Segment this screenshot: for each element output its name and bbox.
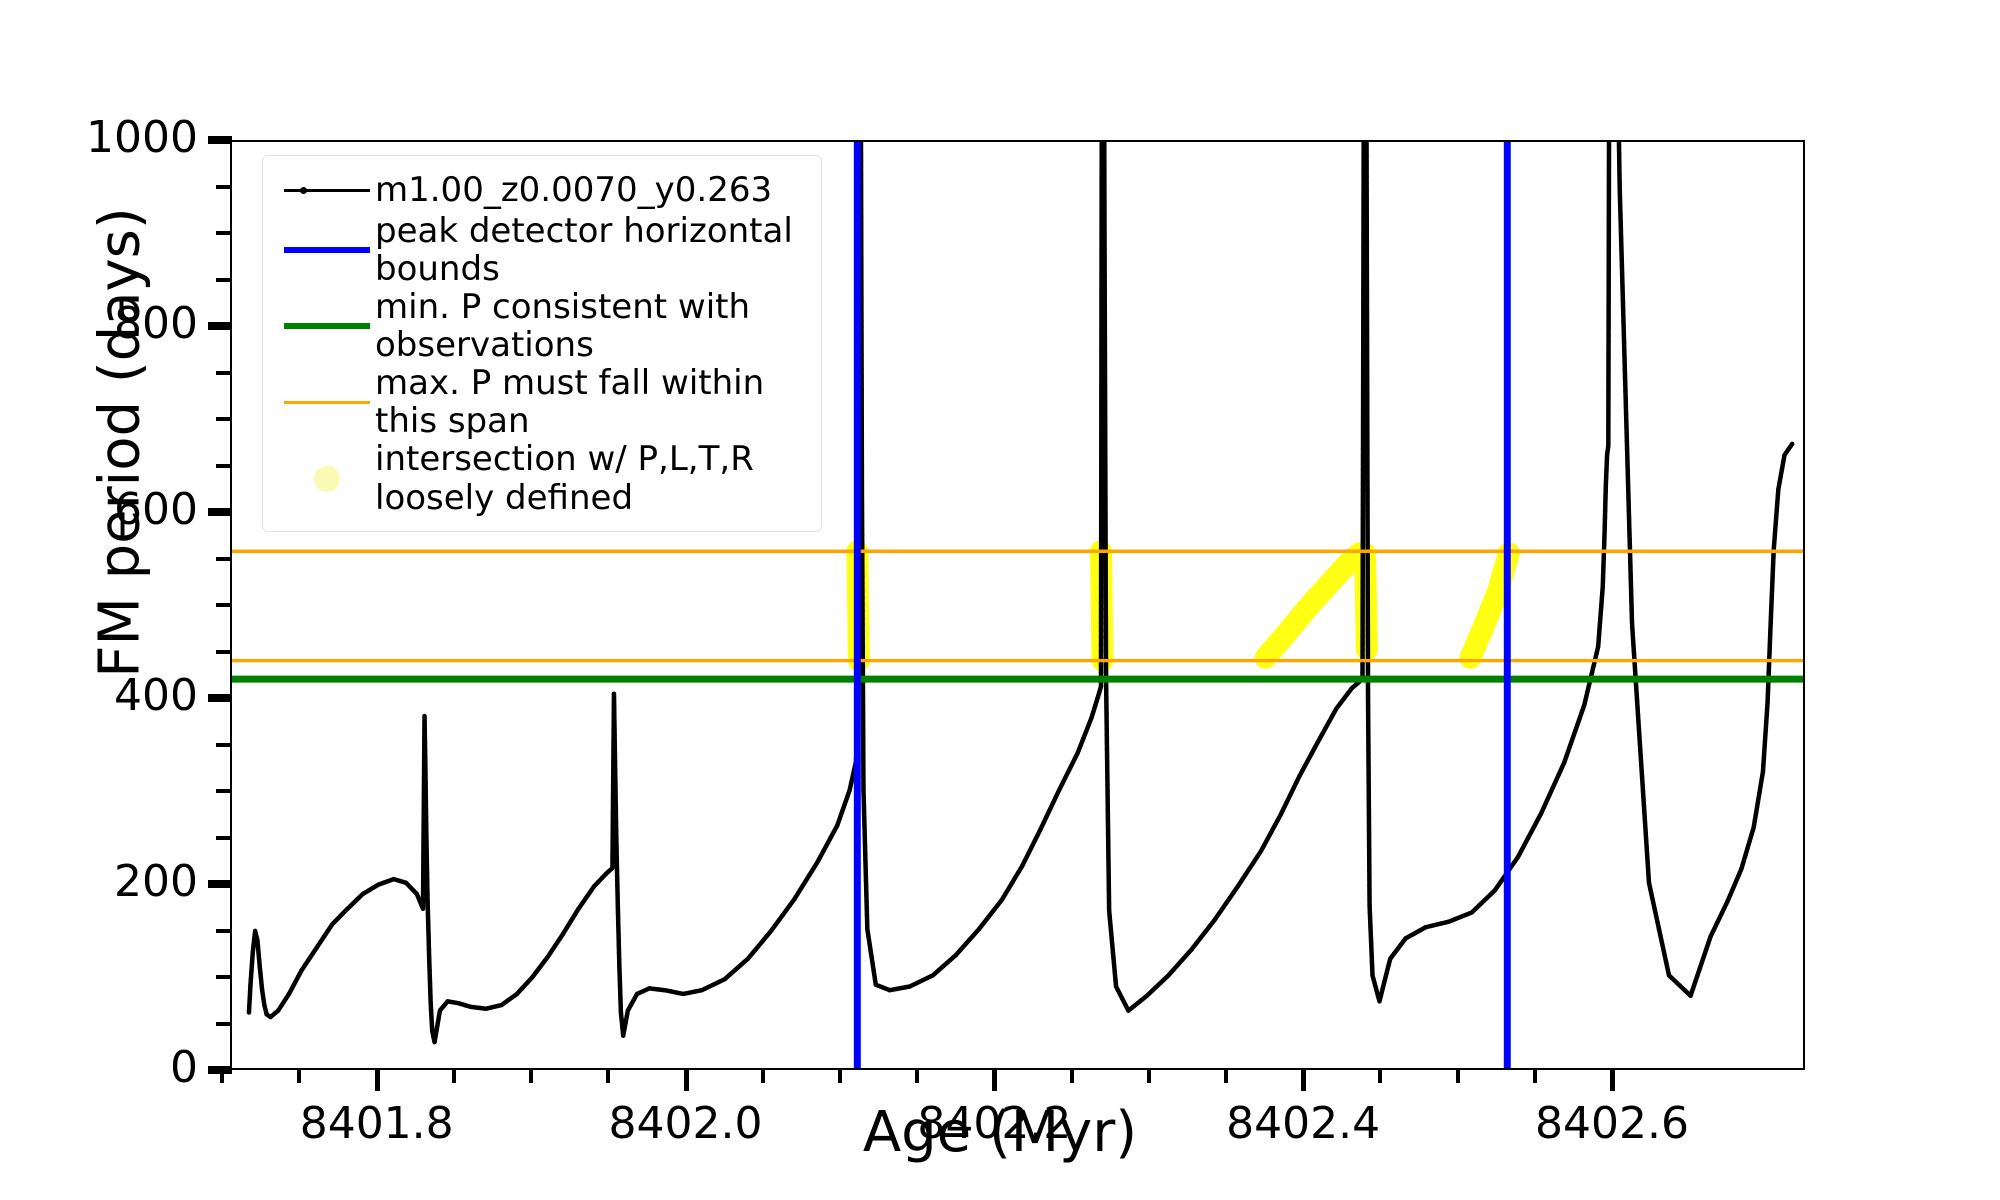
y-axis-tick-label: 600 — [0, 484, 198, 535]
legend-item-label: max. P must fall within this span — [375, 364, 805, 440]
x-axis-major-tick — [992, 1069, 997, 1091]
y-axis-tick-label: 200 — [0, 856, 198, 907]
legend-item-label: min. P consistent with observations — [375, 288, 805, 364]
x-axis-tick-label: 8402.6 — [1502, 1098, 1722, 1149]
legend: m1.00_z0.0070_y0.263peak detector horizo… — [262, 155, 822, 532]
x-axis-minor-tick — [606, 1069, 610, 1083]
x-axis-tick-label: 8402.2 — [884, 1098, 1104, 1149]
y-axis-tick-label: 800 — [0, 298, 198, 349]
y-axis-major-tick — [208, 508, 232, 516]
legend-key-icon — [279, 323, 375, 329]
legend-item-4[interactable]: intersection w/ P,L,T,R loosely defined — [279, 440, 805, 516]
x-axis-tick-label: 8402.4 — [1193, 1098, 1413, 1149]
y-axis-tick-label: 400 — [0, 670, 198, 721]
legend-item-label: peak detector horizontal bounds — [375, 212, 805, 288]
x-axis-major-tick — [684, 1069, 689, 1091]
legend-line-swatch — [284, 323, 370, 329]
intersection-highlight-segment-3 — [1470, 553, 1509, 658]
x-axis-minor-tick — [1147, 1069, 1151, 1083]
legend-item-1[interactable]: peak detector horizontal bounds — [279, 212, 805, 288]
y-axis-tick-label: 1000 — [0, 112, 198, 163]
legend-item-label: m1.00_z0.0070_y0.263 — [375, 171, 772, 209]
x-axis-tick-label: 8402.0 — [576, 1098, 796, 1149]
legend-line-swatch — [284, 401, 370, 404]
intersection-highlight-segment-2 — [1265, 553, 1366, 658]
x-axis-minor-tick — [220, 1069, 224, 1083]
x-axis-minor-tick — [1224, 1069, 1228, 1083]
y-axis-major-tick — [208, 880, 232, 888]
legend-item-2[interactable]: min. P consistent with observations — [279, 288, 805, 364]
y-axis-major-tick — [208, 694, 232, 702]
legend-item-3[interactable]: max. P must fall within this span — [279, 364, 805, 440]
x-axis-minor-tick — [838, 1069, 842, 1083]
x-axis-minor-tick — [1456, 1069, 1460, 1083]
y-axis-tick-label: 0 — [0, 1042, 198, 1093]
x-axis-tick-label: 8401.8 — [267, 1098, 487, 1149]
legend-item-0[interactable]: m1.00_z0.0070_y0.263 — [279, 168, 805, 212]
x-axis-minor-tick — [1070, 1069, 1074, 1083]
legend-item-label: intersection w/ P,L,T,R loosely defined — [375, 440, 754, 516]
x-axis-major-tick — [1301, 1069, 1306, 1091]
x-axis-minor-tick — [529, 1069, 533, 1083]
x-axis-minor-tick — [1533, 1069, 1537, 1083]
x-axis-major-tick — [375, 1069, 380, 1091]
legend-key-icon — [279, 247, 375, 253]
figure-root: FM period (days) Age (Myr) 1000800600400… — [0, 0, 2000, 1200]
x-axis-minor-tick — [915, 1069, 919, 1083]
y-axis-major-tick — [208, 136, 232, 144]
legend-marker-dot-icon — [314, 466, 340, 492]
y-axis-major-tick — [208, 322, 232, 330]
legend-line-swatch — [284, 189, 370, 192]
legend-marker-point-icon — [300, 187, 307, 194]
x-axis-minor-tick — [761, 1069, 765, 1083]
legend-key-icon — [279, 401, 375, 404]
legend-key-icon — [279, 466, 375, 492]
legend-line-swatch — [284, 247, 370, 253]
legend-key-icon — [279, 189, 375, 192]
x-axis-minor-tick — [297, 1069, 301, 1083]
x-axis-minor-tick — [452, 1069, 456, 1083]
x-axis-major-tick — [1610, 1069, 1615, 1091]
x-axis-minor-tick — [1378, 1069, 1382, 1083]
